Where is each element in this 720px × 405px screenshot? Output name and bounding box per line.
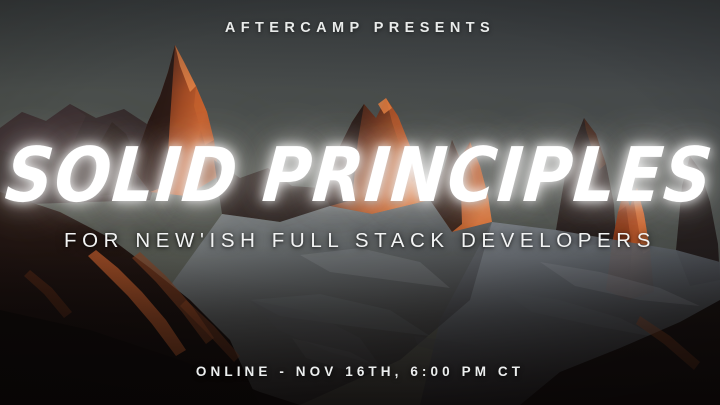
presenter-eyebrow: AFTERCAMP PRESENTS <box>0 20 720 36</box>
event-subtitle: FOR NEW'ISH FULL STACK DEVELOPERS <box>0 229 720 253</box>
event-title: SOLID PRINCIPLES <box>3 133 718 220</box>
event-poster: AFTERCAMP PRESENTS SOLID PRINCIPLES FOR … <box>0 0 720 405</box>
event-details-footer: ONLINE - NOV 16TH, 6:00 PM CT <box>0 364 720 379</box>
title-container: SOLID PRINCIPLES <box>0 138 720 214</box>
